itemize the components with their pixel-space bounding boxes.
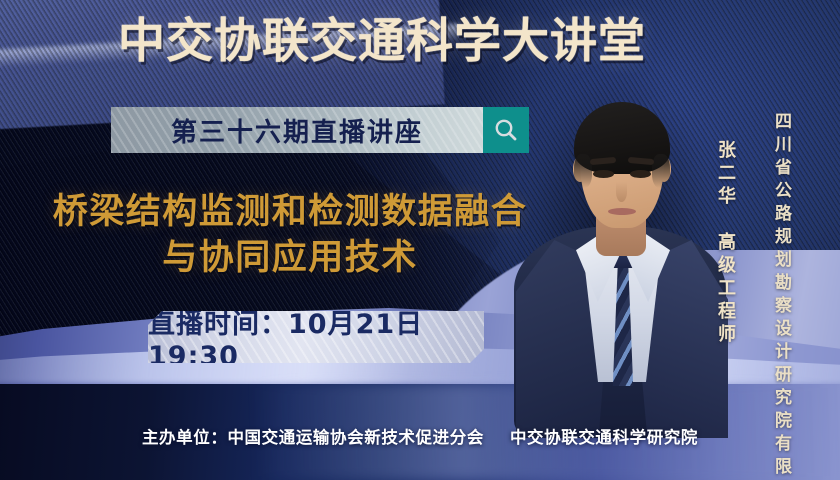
lecture-topic-line1: 桥梁结构监测和检测数据融合 — [53, 192, 528, 232]
hair-sideburn-left — [574, 154, 592, 188]
banner-title: 中交协联交通科学大讲堂 — [118, 16, 698, 69]
hair-sideburn-right — [652, 154, 670, 188]
organizer-org-2: 中交协联交通科学研究院 — [510, 428, 698, 447]
live-lecture-banner: 中交协联交通科学大讲堂 第三十六期直播讲座 桥梁结构监测和检测数据融合 与协同应… — [0, 0, 840, 480]
broadcast-time-text: 直播时间：10月21日19:30 — [148, 311, 484, 363]
episode-label: 第三十六期直播讲座 — [171, 112, 423, 149]
lecture-topic-line2: 与协同应用技术 — [0, 236, 580, 282]
lecture-topic: 桥梁结构监测和检测数据融合 与协同应用技术 — [0, 190, 580, 281]
nose — [616, 182, 627, 202]
eye-right — [630, 170, 651, 178]
organizer-prefix: 主办单位： — [142, 428, 228, 447]
organizer-line: 主办单位：中国交通运输协会新技术促进分会中交协联交通科学研究院 — [0, 424, 840, 448]
organizer-org-1: 中国交通运输协会新技术促进分会 — [227, 428, 484, 447]
episode-bar-body: 第三十六期直播讲座 — [111, 107, 483, 153]
search-icon[interactable] — [483, 107, 529, 153]
broadcast-time-pill: 直播时间：10月21日19:30 — [148, 311, 484, 363]
episode-bar: 第三十六期直播讲座 — [111, 107, 529, 153]
eye-left — [593, 170, 614, 178]
speaker-name-title: 张二华 高级工程师 — [712, 140, 738, 347]
mouth — [608, 208, 636, 215]
